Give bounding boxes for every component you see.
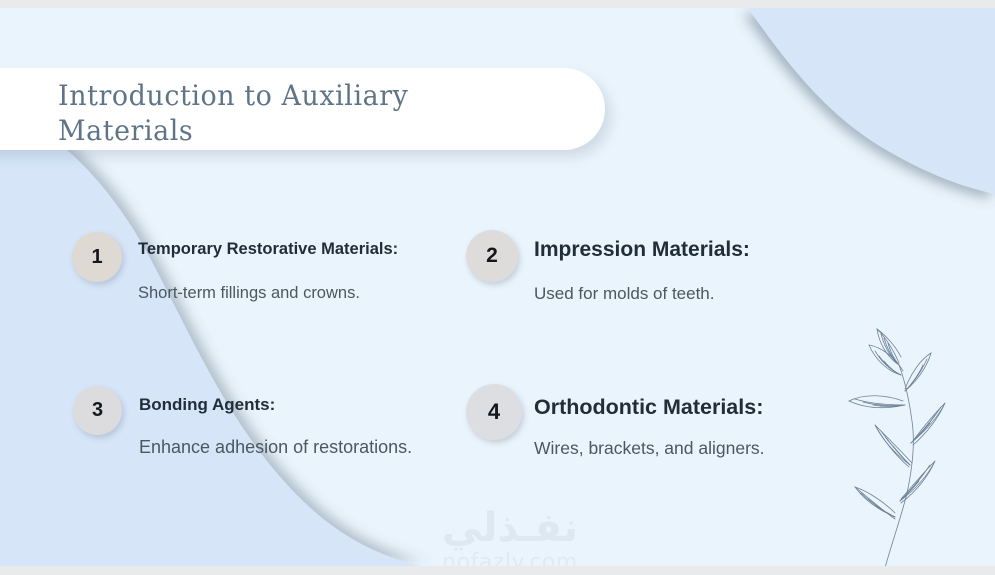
- item-heading: Bonding Agents:: [139, 395, 275, 415]
- item-number-badge: 3: [73, 386, 122, 435]
- wave-bottom-left: [0, 110, 420, 566]
- wave-top-right: [748, 8, 995, 194]
- botanical-branch-icon: [843, 313, 993, 566]
- watermark-arabic-text: نفـذلي: [410, 508, 610, 548]
- item-description: Short-term fillings and crowns.: [138, 284, 360, 303]
- item-description: Wires, brackets, and aligners.: [534, 438, 765, 459]
- item-number-badge: 4: [466, 384, 522, 440]
- item-number-badge: 1: [72, 232, 122, 282]
- page-title: Introduction to Auxiliary Materials: [58, 78, 557, 148]
- item-description: Enhance adhesion of restorations.: [139, 437, 412, 458]
- item-heading: Orthodontic Materials:: [534, 395, 763, 420]
- item-heading: Temporary Restorative Materials:: [138, 240, 398, 259]
- watermark: نفـذلي nofazly.com: [410, 508, 610, 566]
- item-description: Used for molds of teeth.: [534, 284, 714, 304]
- item-heading: Impression Materials:: [534, 238, 750, 262]
- watermark-domain-text: nofazly.com: [410, 552, 610, 566]
- slide-canvas: Introduction to Auxiliary Materials 1 Te…: [0, 8, 995, 566]
- item-number-badge: 2: [466, 230, 518, 282]
